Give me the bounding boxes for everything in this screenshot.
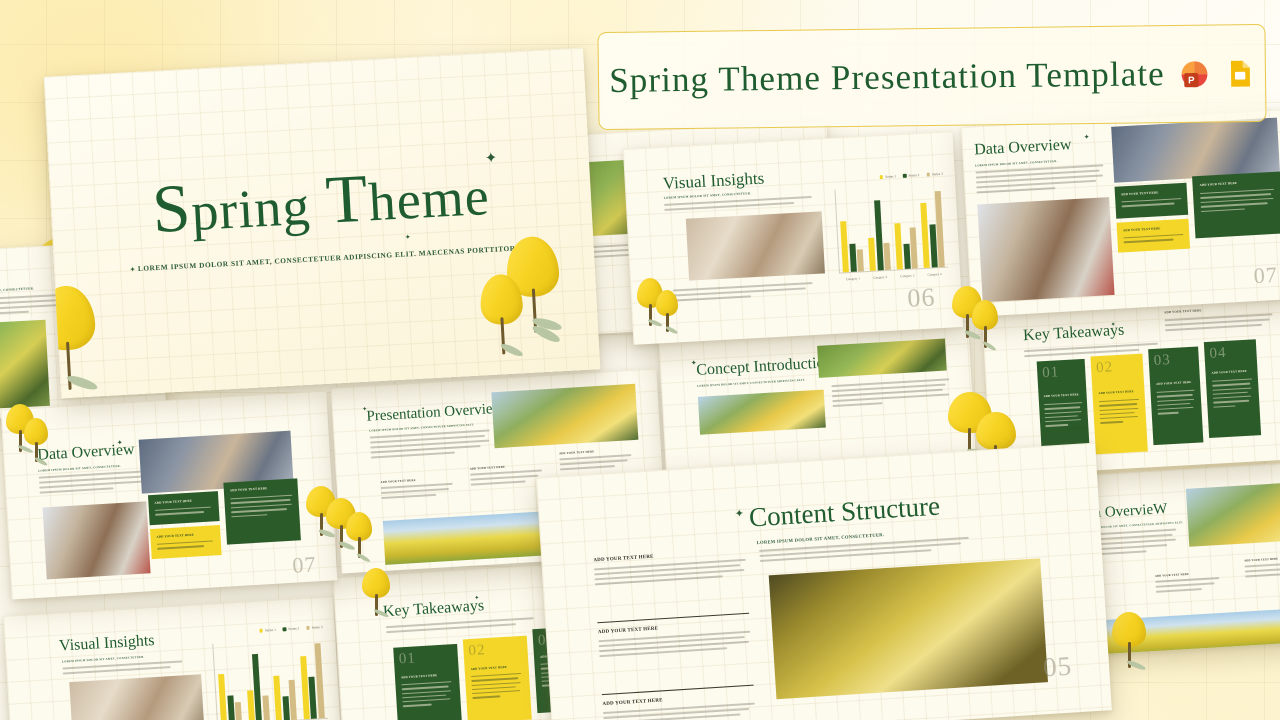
slide-kt-right-top-body — [1164, 313, 1273, 334]
slide-do07-box-1-body — [1121, 198, 1181, 210]
slide-kt-right-card-1-number: 01 — [1042, 364, 1060, 382]
slide-kt-right-card-1[interactable]: 01 ADD YOUR TEXT HERE — [1037, 359, 1090, 456]
legend-item-b-series-3: Series 3 — [306, 625, 323, 630]
title-word-1-rest: pring — [190, 176, 312, 242]
slide-design-body — [0, 294, 63, 320]
slide-kt-bottom-card-2-body — [471, 673, 522, 702]
chart-bar-group — [892, 185, 917, 269]
title-word-1-initial: S — [150, 169, 193, 247]
google-slides-icon — [1224, 58, 1255, 89]
title-slide-subtitle: ✦ LOREM IPSUM DOLOR SIT AMET, CONSECTETU… — [54, 239, 594, 277]
slide-concept-title: Concept Introduction — [696, 355, 833, 379]
slide-po-right-col-2-body — [1245, 562, 1280, 578]
chart-bar — [282, 696, 289, 720]
slide-vi06-body-bottom — [673, 282, 814, 305]
slide-do07-title: Data Overview — [974, 137, 1072, 158]
slide-kt-right-card-2-number: 02 — [1096, 359, 1114, 377]
slide-kt-right-title: Key Takeaways — [1023, 323, 1125, 345]
slide-content-item-2[interactable]: ADD YOUR TEXT HERE — [598, 621, 752, 660]
chart-bar — [857, 250, 864, 272]
slide-po-right-col-1[interactable]: ADD YOUR TEXT HERE — [1155, 571, 1220, 596]
slide-content-item-1-body — [594, 559, 747, 586]
chart-x-tick-label: Category 3 — [900, 273, 914, 278]
chart-bar — [920, 203, 929, 268]
slide-do07-box-2-body — [1200, 189, 1275, 215]
slide-do07-number: 07 — [1253, 262, 1278, 289]
chart-bar-group — [244, 640, 270, 720]
slide-kt-right-card-3-number: 03 — [1153, 352, 1171, 370]
slide-po-right-col-1-body — [1155, 577, 1220, 593]
slide-kt-right-card-4-body — [1212, 379, 1254, 411]
sparkle-icon-do07b: ✦ — [117, 439, 123, 447]
slide-kt-bottom-card-1-label: ADD YOUR TEXT HERE — [401, 673, 438, 679]
chart-bar — [289, 679, 297, 720]
slide-content-photo — [769, 558, 1048, 699]
slide-po-bottom-col-2[interactable]: ADD YOUR TEXT HERE — [470, 463, 543, 488]
legend-item-series-2: Series 2 — [903, 173, 920, 178]
header-banner: Spring Theme Presentation Template P — [597, 24, 1266, 130]
slide-kt-right-card-3-body — [1157, 390, 1196, 418]
slide-concept-photo-bottom — [698, 390, 826, 435]
slide-kt-right-card-4-label: ADD YOUR TEXT HERE — [1211, 370, 1246, 375]
slide-kt-right-card-3[interactable]: 03 ADD YOUR TEXT HERE — [1148, 346, 1203, 445]
slide-do07-box-3-body — [1123, 234, 1183, 246]
slide-kt-right-card-2-body — [1099, 399, 1140, 427]
visual-insights-bottom-chart: Series 1 Series 2 Series 3 Category 1Cat… — [203, 625, 329, 720]
slide-vi-bottom-body — [62, 660, 182, 677]
title-word-2-rest: heme — [367, 166, 491, 232]
chart-x-tick-label: Category 1 — [846, 276, 860, 281]
sparkle-icon-title: ✦ — [484, 148, 498, 168]
banner-title: Spring Theme Presentation Template — [609, 54, 1165, 101]
slide-kt-right-card-2[interactable]: 02 ADD YOUR TEXT HERE — [1090, 354, 1147, 455]
chart-plot-area — [834, 184, 947, 274]
sparkle-icon-kt-right: ✦ — [1111, 321, 1116, 328]
slide-vi06-photo — [686, 211, 825, 280]
slide-data-overview-07-bottom[interactable]: Data Overview ✦ LOREM IPSUM DOLOR SIT AM… — [1, 391, 338, 600]
chart-bar — [840, 221, 849, 273]
slide-do07b-box-1-label: ADD YOUR TEXT HERE — [154, 499, 192, 505]
slide-do07b-box-2-label: ADD YOUR TEXT HERE — [230, 486, 268, 492]
chart-bar — [868, 237, 876, 270]
slide-po-right-col-2-label: ADD YOUR TEXT HERE — [1244, 556, 1280, 563]
tulip-decor-title-right-2 — [479, 273, 525, 355]
slide-vi06-title: Visual Insights — [662, 169, 764, 191]
legend-label-series-3: Series 3 — [932, 172, 943, 177]
slide-concept-introduction[interactable]: ✦ Concept Introduction LOREM IPSUM DOLOR… — [658, 321, 975, 471]
slide-do07b-box-3-label: ADD YOUR TEXT HERE — [156, 533, 194, 539]
chart-bar-group — [216, 642, 242, 720]
slide-kt-bottom-card-2[interactable]: 02 ADD YOUR TEXT HERE — [463, 636, 532, 720]
slide-po-right-photo — [1186, 480, 1280, 546]
chart-bar — [300, 656, 310, 719]
slide-po-bottom-col-1-body — [381, 483, 454, 499]
chart-bar — [883, 243, 890, 270]
slide-kt-right-card-4-number: 04 — [1209, 345, 1227, 363]
slide-do07-body — [975, 164, 1104, 196]
slide-kt-bottom-card-2-label: ADD YOUR TEXT HERE — [471, 665, 508, 671]
chart-bar — [247, 690, 255, 720]
slide-do07b-box-3[interactable]: ADD YOUR TEXT HERE — [150, 525, 222, 559]
sparkle-icon-subtitle: ✦ — [130, 267, 136, 273]
slide-kt-bottom-card-1-number: 01 — [398, 650, 416, 668]
chart-bar — [910, 227, 918, 269]
sparkle-icon-kt-bottom: ✦ — [474, 594, 479, 601]
slide-kt-right-card-1-body — [1044, 402, 1083, 430]
chart-bar-group — [838, 188, 863, 272]
legend-label-b-series-2: Series 2 — [288, 626, 299, 631]
slide-kt-bottom-title: Key Takeaways — [383, 598, 485, 620]
slide-do07-box-2-label: ADD YOUR TEXT HERE — [1199, 181, 1237, 187]
slide-po-bottom-col-3-body — [559, 454, 632, 470]
legend-item-series-3: Series 3 — [926, 172, 943, 177]
legend-label-series-2: Series 2 — [909, 173, 920, 178]
slide-content-number: 05 — [1042, 651, 1073, 684]
legend-item-b-series-1: Series 1 — [259, 628, 276, 633]
title-word-2-initial: T — [324, 160, 371, 238]
chart-bar-group — [919, 184, 944, 268]
chart-legend: Series 1 Series 2 Series 3 — [880, 172, 943, 179]
title-slide-heading: SpringTheme — [49, 151, 592, 248]
slide-do07b-box-3-body — [157, 540, 213, 552]
chart-bar — [903, 244, 910, 269]
slide-content-item-3[interactable]: ADD YOUR TEXT HERE — [602, 693, 755, 720]
slide-do07-box-2[interactable]: ADD YOUR TEXT HERE — [1192, 172, 1280, 239]
chart-x-tick-label: Category 2 — [873, 275, 887, 280]
slide-do07b-number: 07 — [292, 551, 317, 578]
chart-bar — [849, 243, 857, 272]
slide-do07-box-1[interactable]: ADD YOUR TEXT HERE — [1115, 183, 1189, 219]
title-slide-subtitle-text: LOREM IPSUM DOLOR SIT AMET, CONSECTETUER… — [138, 243, 518, 273]
legend-label-b-series-3: Series 3 — [312, 625, 323, 630]
slide-kt-right-card-3-label: ADD YOUR TEXT HERE — [1156, 381, 1191, 386]
slide-po-bottom-col-3[interactable]: ADD YOUR TEXT HERE — [559, 448, 632, 473]
legend-label-b-series-1: Series 1 — [265, 628, 276, 633]
chart-legend-bottom: Series 1 Series 2 Series 3 — [259, 625, 322, 633]
slide-kt-bottom-card-1-body — [401, 681, 452, 710]
svg-text:P: P — [1188, 75, 1195, 86]
powerpoint-icon: P — [1179, 58, 1210, 89]
slide-design-photo — [0, 320, 50, 411]
slide-kt-bottom-card-1[interactable]: 01 ADD YOUR TEXT HERE — [393, 644, 462, 720]
slide-po-bottom-col-2-body — [470, 469, 543, 485]
slide-do07-box-3[interactable]: ADD YOUR TEXT HERE — [1117, 219, 1191, 253]
page-background: Design LOREM IPSUM DOLOR SIT AMET, CONSE… — [0, 0, 1280, 720]
sparkle-icon-title-small: ✦ — [405, 233, 411, 241]
slide-kt-right-top-label: ADD YOUR TEXT HERE — [1164, 308, 1202, 314]
slide-title-spring-theme[interactable]: SpringTheme ✦ ✦ ✦ LOREM IPSUM DOLOR SIT … — [44, 48, 601, 399]
chart-bar-group — [299, 637, 325, 719]
chart-x-tick-label: Category 4 — [927, 272, 941, 277]
legend-item-series-1: Series 1 — [880, 174, 897, 179]
chart-bar-group — [271, 639, 297, 720]
slide-do07-box-1-label: ADD YOUR TEXT HERE — [1121, 190, 1159, 196]
slide-kt-right-card-1-label: ADD YOUR TEXT HERE — [1044, 393, 1079, 398]
chart-bar — [894, 224, 902, 270]
slide-kt-right-card-2-label: ADD YOUR TEXT HERE — [1098, 390, 1133, 395]
slide-content-item-2-body — [598, 631, 751, 658]
visual-insights-bar-chart: Series 1 Series 2 Series 3 Category 1Cat… — [825, 172, 949, 284]
slide-po-bottom-title: Presentation Overview — [366, 402, 504, 425]
slide-vi-bottom-photo — [69, 674, 204, 720]
legend-label-series-1: Series 1 — [885, 174, 896, 179]
slide-po-bottom-body — [370, 429, 491, 461]
slide-content-title: Content Structure — [748, 493, 941, 532]
chart-plot-area-bottom — [212, 637, 328, 720]
slide-do07-box-3-label: ADD YOUR TEXT HERE — [1123, 226, 1161, 232]
slide-vi-bottom-title: Visual Insights — [59, 633, 155, 655]
slide-do07b-box-2-body — [230, 495, 293, 521]
sparkle-icon-content: ✦ — [734, 507, 744, 521]
slide-po-bottom-col-1[interactable]: ADD YOUR TEXT HERE — [380, 477, 453, 502]
slide-content-structure[interactable]: ✦ Content Structure LOREM IPSUM DOLOR SI… — [536, 443, 1112, 720]
chart-bar — [235, 702, 242, 720]
slide-do07b-photo-desk — [43, 501, 151, 579]
slide-content-item-1[interactable]: ADD YOUR TEXT HERE — [593, 549, 747, 588]
chart-bar — [218, 674, 227, 720]
slide-data-overview-07-top[interactable]: Data Overview ✦ LOREM IPSUM DOLOR SIT AM… — [961, 109, 1280, 317]
slide-po-right-col-2[interactable]: ADD YOUR TEXT HERE — [1244, 556, 1280, 581]
slide-kt-bottom-intro — [386, 617, 534, 636]
slide-concept-photo-top — [817, 339, 947, 378]
chart-x-axis-labels: Category 1Category 2Category 3Category 4 — [839, 272, 948, 282]
slide-vi06-number: 06 — [907, 282, 937, 313]
slide-po-bottom-photo — [491, 384, 638, 448]
legend-item-b-series-2: Series 2 — [283, 626, 300, 631]
chart-bar — [227, 696, 235, 720]
slide-do07b-box-1-body — [155, 507, 211, 519]
slide-do07b-box-2[interactable]: ADD YOUR TEXT HERE — [223, 478, 301, 544]
slide-visual-insights-bottom[interactable]: Visual Insights LOREM IPSUM DOLOR SIT AM… — [3, 596, 343, 720]
slide-do07-photo-desk — [977, 197, 1114, 302]
slide-kt-bottom-card-2-number: 02 — [468, 642, 486, 660]
sparkle-icon-do07: ✦ — [1083, 133, 1089, 141]
chart-bar — [274, 676, 283, 720]
chart-bar-group — [865, 187, 890, 271]
chart-bar — [262, 695, 270, 720]
slide-concept-kicker: LOREM IPSUM DOLOR SIT AMET, CONSECTETUER… — [697, 379, 805, 388]
slide-kt-right-card-4[interactable]: 04 ADD YOUR TEXT HERE — [1204, 339, 1261, 438]
slide-visual-insights-06[interactable]: Visual Insights LOREM IPSUM DOLOR SIT AM… — [623, 131, 963, 345]
slide-concept-body — [831, 378, 950, 410]
slide-do07b-box-1[interactable]: ADD YOUR TEXT HERE — [148, 491, 220, 525]
